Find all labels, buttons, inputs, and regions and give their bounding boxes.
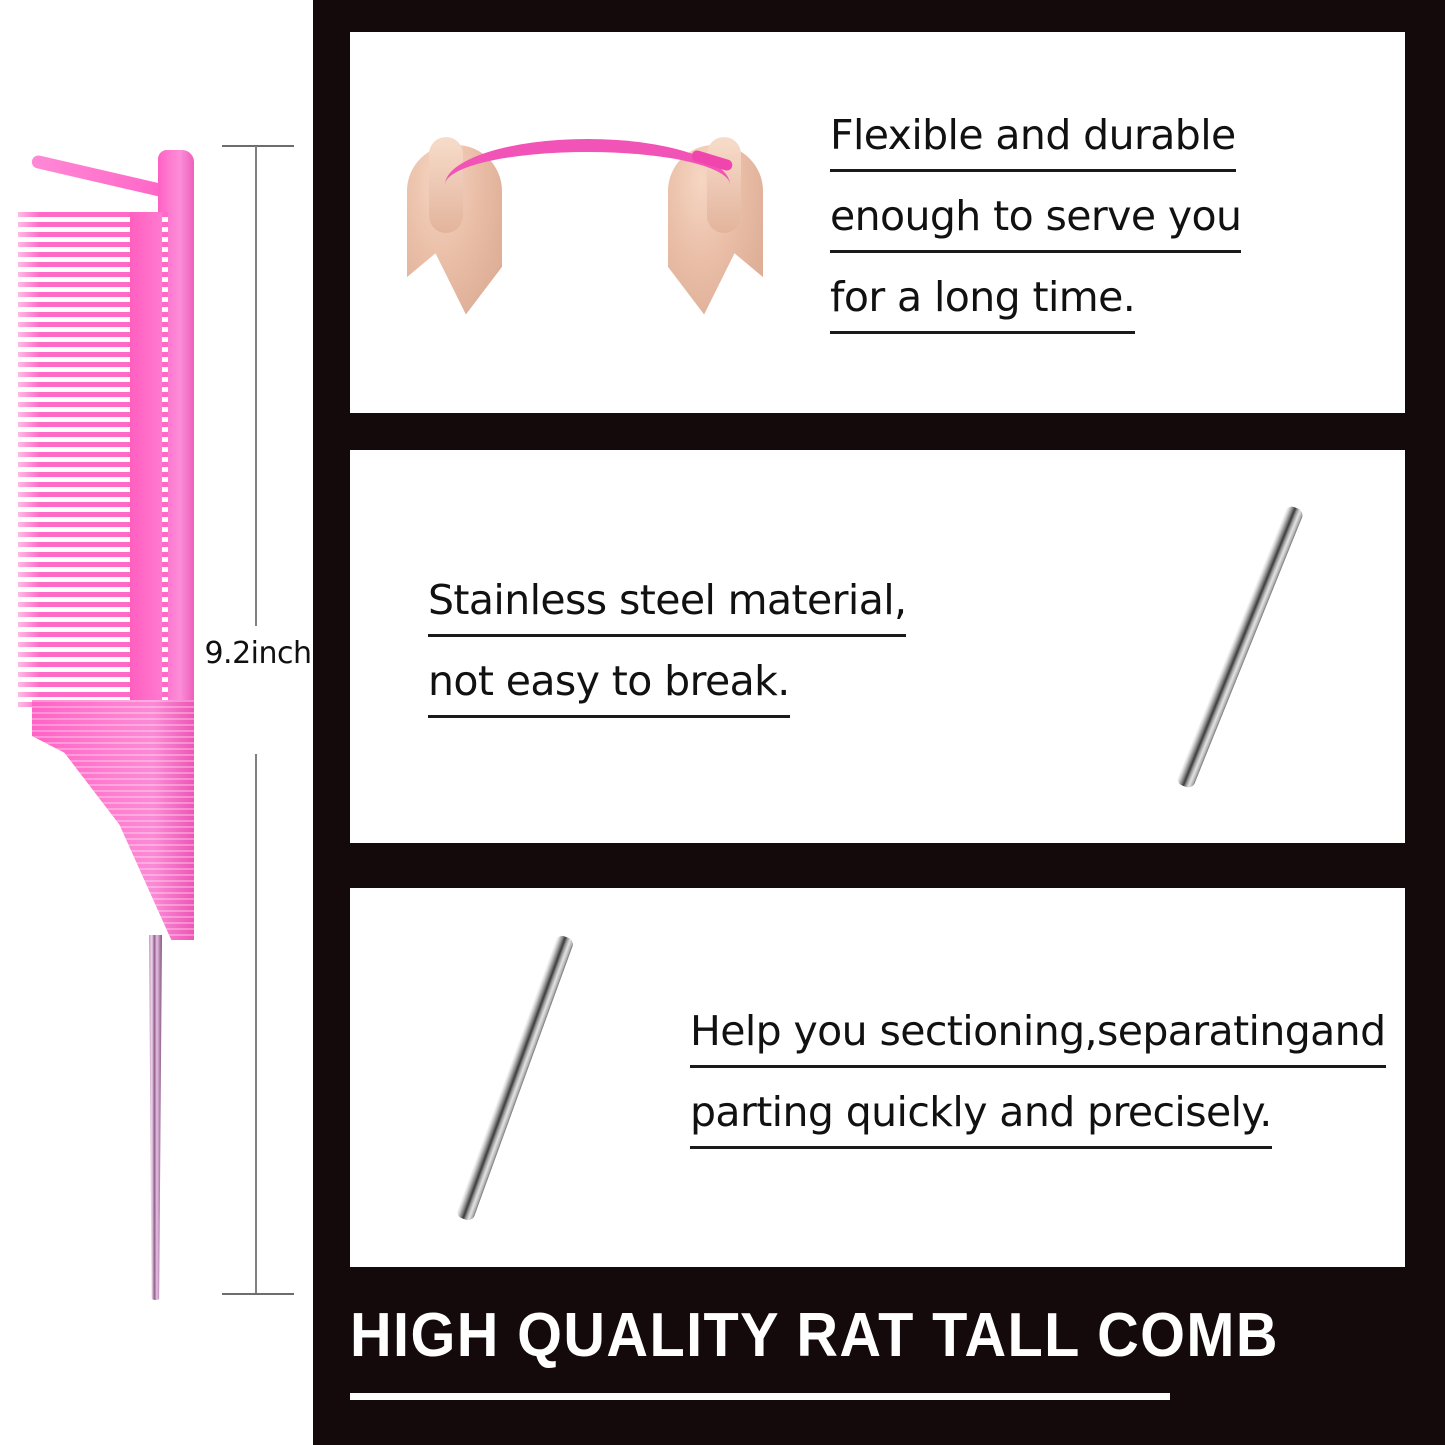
panel-1-media xyxy=(350,32,820,413)
feature-text-line: for a long time. xyxy=(830,273,1135,334)
feature-panel-stainless-steel: Stainless steel material, not easy to br… xyxy=(350,450,1405,843)
rat-tail-comb-image xyxy=(18,140,193,1305)
feature-text-line: not easy to break. xyxy=(428,657,790,718)
comb-body-ridges xyxy=(32,700,194,940)
right-thumb-icon xyxy=(707,137,741,233)
footer-title: HIGH QUALITY RAT TALL COMB xyxy=(350,1300,1336,1371)
steel-pin-icon xyxy=(455,933,575,1221)
feature-text-line: parting quickly and precisely. xyxy=(690,1088,1272,1149)
feature-panel-flexible: Flexible and durable enough to serve you… xyxy=(350,32,1405,413)
dimension-measurement: 9.2inch xyxy=(206,140,306,1300)
feature-text-line: Flexible and durable xyxy=(830,111,1236,172)
dimension-line-lower xyxy=(255,754,257,1294)
feature-panel-sectioning: Help you sectioning,separatingand partin… xyxy=(350,888,1405,1267)
panel-3-media xyxy=(350,888,680,1267)
footer-banner: HIGH QUALITY RAT TALL COMB xyxy=(350,1300,1410,1420)
comb-steel-tail-pin xyxy=(149,935,162,1300)
steel-pin-icon xyxy=(1175,504,1304,789)
infographic-root: 9.2inch Flexible and durable enough to s… xyxy=(0,0,1445,1445)
bent-comb-arc xyxy=(445,139,730,185)
dimension-line-upper xyxy=(255,146,257,626)
dimension-cap-top xyxy=(222,145,294,147)
footer-underline-rule xyxy=(350,1393,1170,1400)
panel-2-text: Stainless steel material, not easy to br… xyxy=(350,576,1075,718)
product-showcase-column: 9.2inch xyxy=(0,0,313,1445)
dimension-cap-bottom xyxy=(222,1293,294,1295)
panel-3-text: Help you sectioning,separatingand partin… xyxy=(680,1007,1405,1149)
feature-text-line: Stainless steel material, xyxy=(428,576,906,637)
left-thumb-icon xyxy=(429,137,463,233)
panel-2-media xyxy=(1075,450,1405,843)
feature-text-line: enough to serve you xyxy=(830,192,1241,253)
comb-teeth-base xyxy=(130,212,162,712)
panel-1-text: Flexible and durable enough to serve you… xyxy=(820,111,1405,334)
hands-bending-comb-icon xyxy=(385,123,785,323)
feature-text-line: Help you sectioning,separatingand xyxy=(690,1007,1386,1068)
dimension-label: 9.2inch xyxy=(200,636,316,671)
